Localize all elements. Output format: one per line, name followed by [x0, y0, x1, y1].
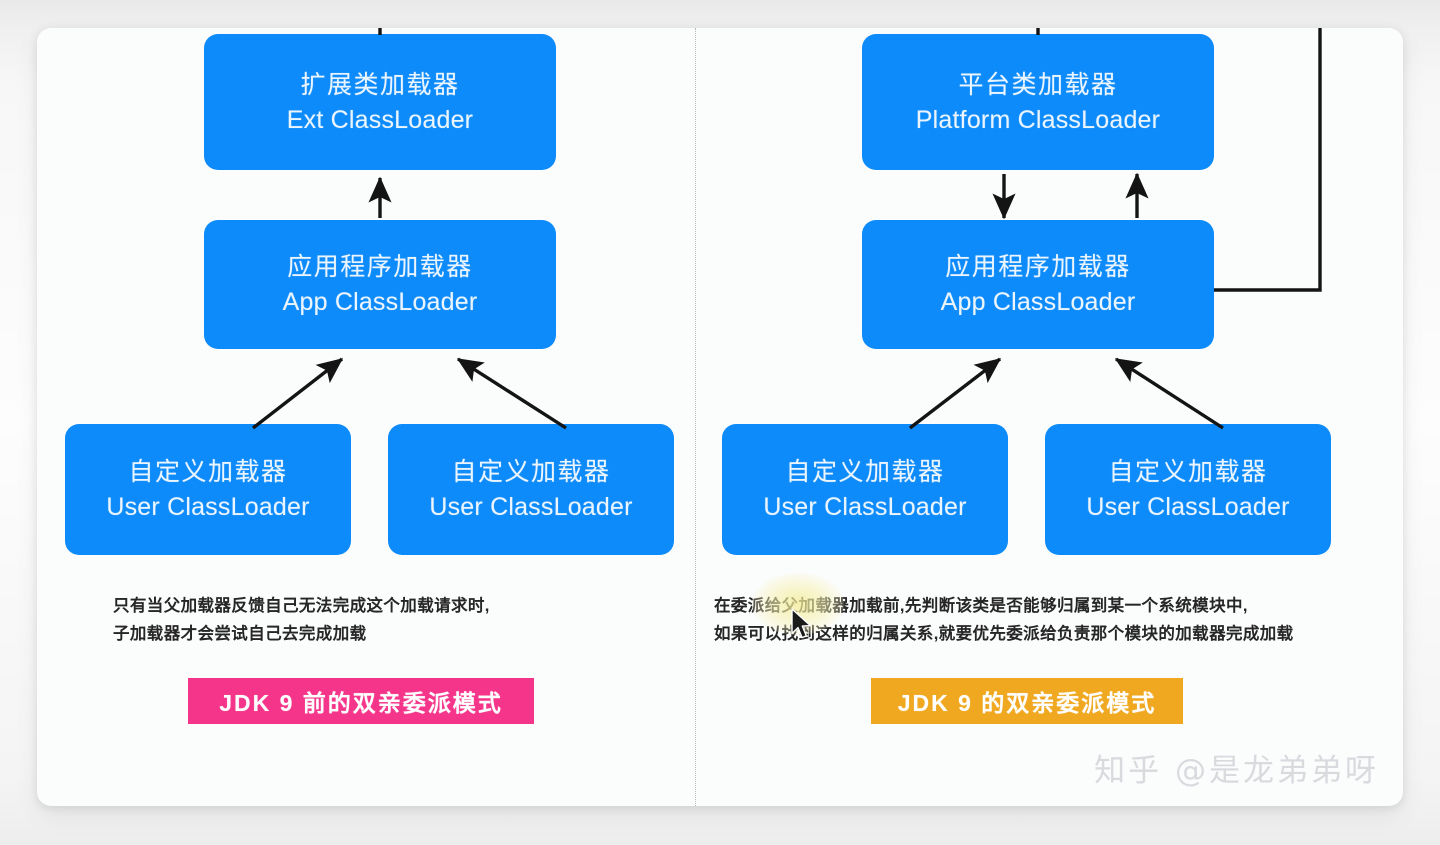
watermark: 知乎 @是龙弟弟呀: [1094, 745, 1379, 790]
node-user-classloader-1[interactable]: 自定义加载器 User ClassLoader: [65, 424, 351, 555]
node-ext-classloader-cn: 扩展类加载器: [300, 69, 459, 101]
jdk9-delegation-panel: 平台类加载器 Platform ClassLoader 应用程序加载器 App …: [696, 28, 1403, 806]
panel-divider: [695, 28, 696, 806]
arrow-user2-to-app: [458, 359, 566, 428]
node-user-classloader-2-en: User ClassLoader: [1086, 491, 1289, 523]
left-panel-badge: JDK 9 前的双亲委派模式: [188, 678, 534, 724]
arrow-user1-to-app: [910, 359, 1000, 428]
arrow-user2-to-app: [1116, 359, 1223, 428]
node-platform-classloader-en: Platform ClassLoader: [916, 104, 1160, 136]
node-app-classloader-en: App ClassLoader: [941, 286, 1136, 318]
node-user-classloader-2-en: User ClassLoader: [429, 491, 632, 523]
node-app-classloader-en: App ClassLoader: [283, 286, 478, 318]
node-user-classloader-1-en: User ClassLoader: [763, 491, 966, 523]
node-user-classloader-1[interactable]: 自定义加载器 User ClassLoader: [722, 424, 1008, 555]
right-panel-caption: 在委派给父加载器加载前,先判断该类是否能够归属到某一个系统模块中, 如果可以找到…: [714, 592, 1394, 649]
node-ext-classloader-en: Ext ClassLoader: [287, 104, 473, 136]
arrow-app-to-module-loader: [1214, 28, 1320, 290]
left-panel-caption: 只有当父加载器反馈自己无法完成这个加载请求时, 子加载器才会尝试自己去完成加载: [113, 592, 633, 649]
node-platform-classloader[interactable]: 平台类加载器 Platform ClassLoader: [862, 34, 1214, 170]
node-user-classloader-2-cn: 自定义加载器: [451, 456, 610, 488]
node-user-classloader-2-cn: 自定义加载器: [1108, 456, 1267, 488]
node-user-classloader-1-en: User ClassLoader: [106, 491, 309, 523]
node-user-classloader-1-cn: 自定义加载器: [128, 456, 287, 488]
node-ext-classloader[interactable]: 扩展类加载器 Ext ClassLoader: [204, 34, 556, 170]
node-user-classloader-2[interactable]: 自定义加载器 User ClassLoader: [1045, 424, 1331, 555]
jdk8-delegation-panel: 扩展类加载器 Ext ClassLoader 应用程序加载器 App Class…: [37, 28, 695, 806]
node-app-classloader-cn: 应用程序加载器: [287, 251, 473, 283]
node-user-classloader-1-cn: 自定义加载器: [785, 456, 944, 488]
arrow-user1-to-app: [253, 359, 342, 428]
right-panel-badge: JDK 9 的双亲委派模式: [871, 678, 1183, 724]
node-platform-classloader-cn: 平台类加载器: [958, 69, 1117, 101]
diagram-card: 扩展类加载器 Ext ClassLoader 应用程序加载器 App Class…: [37, 28, 1403, 806]
page-background: 扩展类加载器 Ext ClassLoader 应用程序加载器 App Class…: [0, 0, 1440, 845]
node-user-classloader-2[interactable]: 自定义加载器 User ClassLoader: [388, 424, 674, 555]
node-app-classloader[interactable]: 应用程序加载器 App ClassLoader: [862, 220, 1214, 349]
node-app-classloader-cn: 应用程序加载器: [945, 251, 1131, 283]
node-app-classloader[interactable]: 应用程序加载器 App ClassLoader: [204, 220, 556, 349]
